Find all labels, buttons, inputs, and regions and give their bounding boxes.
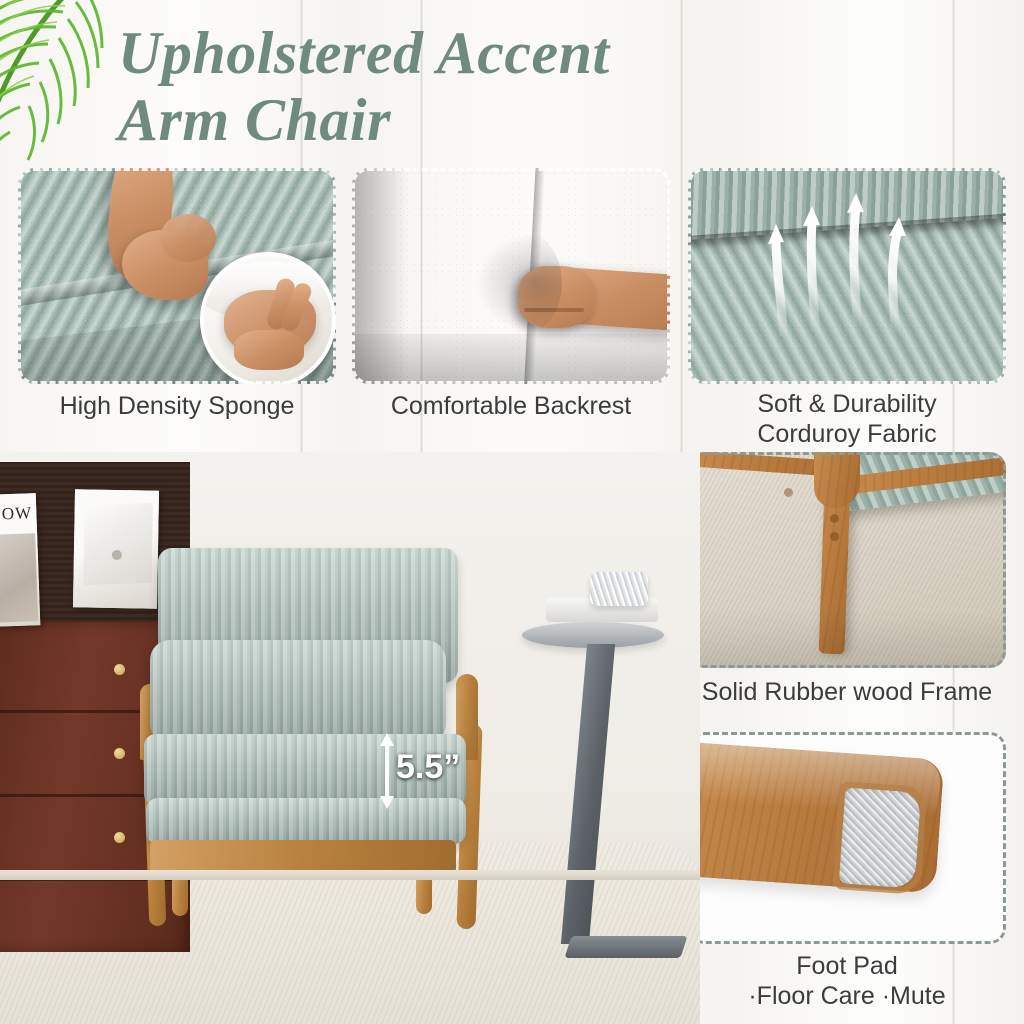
caption-foot-pad: Foot Pad·Floor Care ·Mute (688, 952, 1006, 1011)
page-title-line1: Upholstered Accent (118, 20, 610, 86)
c-shaped-side-table (522, 614, 700, 1014)
dimension-label: 5.5” (396, 748, 460, 787)
table-post (561, 644, 615, 944)
caption-corduroy-fabric: Soft & Durability Corduroy Fabric (688, 390, 1006, 449)
feature-panel-corduroy-fabric (688, 168, 1006, 384)
page-title: Upholstered AccentArm Chair (118, 20, 818, 154)
leg-joint (814, 452, 860, 508)
product-infographic: Upholstered AccentArm Chair High De (0, 0, 1024, 1024)
dowel-plug-3 (784, 488, 793, 497)
feature-panel-rubber-wood-frame (688, 452, 1006, 668)
lumbar-cushion (150, 640, 446, 744)
magazine-left: LOW (0, 493, 40, 627)
base-cushion (146, 798, 466, 844)
drawer-knob-2 (114, 748, 125, 759)
feature-panel-foot-pad (688, 732, 1006, 944)
feature-panel-comfortable-backrest (352, 168, 670, 384)
seat-shadow (352, 334, 670, 384)
floor-shadow (688, 608, 1006, 668)
caption-foot-pad-line1: Foot Pad (796, 952, 897, 980)
cup-on-table (590, 572, 648, 606)
drawer-knob-1 (114, 664, 125, 675)
table-base (564, 936, 687, 958)
foot-arch (160, 214, 216, 262)
page-title-line2: Arm Chair (118, 87, 391, 153)
hero-room-scene: LOW (0, 452, 700, 1024)
feature-panel-high-density-sponge (18, 168, 336, 384)
drawer-knob-3 (114, 832, 125, 843)
front-rail (150, 840, 456, 874)
magazine-title: LOW (0, 503, 32, 524)
caption-foot-pad-line2: ·Floor Care ·Mute (748, 982, 945, 1010)
up-arrow-icon-group (688, 168, 1006, 384)
dowel-plug-2 (830, 532, 839, 541)
dowel-plug-1 (830, 514, 839, 523)
caption-comfortable-backrest: Comfortable Backrest (352, 392, 670, 422)
pad-wood-rim (832, 781, 927, 895)
caption-high-density-sponge: High Density Sponge (18, 392, 336, 422)
accent-arm-chair: 5.5” (128, 548, 500, 968)
baseboard (0, 870, 700, 880)
press-dent (472, 228, 562, 338)
foam-inset-photo (200, 252, 336, 384)
caption-rubber-wood-frame: Solid Rubber wood Frame (688, 678, 1006, 708)
